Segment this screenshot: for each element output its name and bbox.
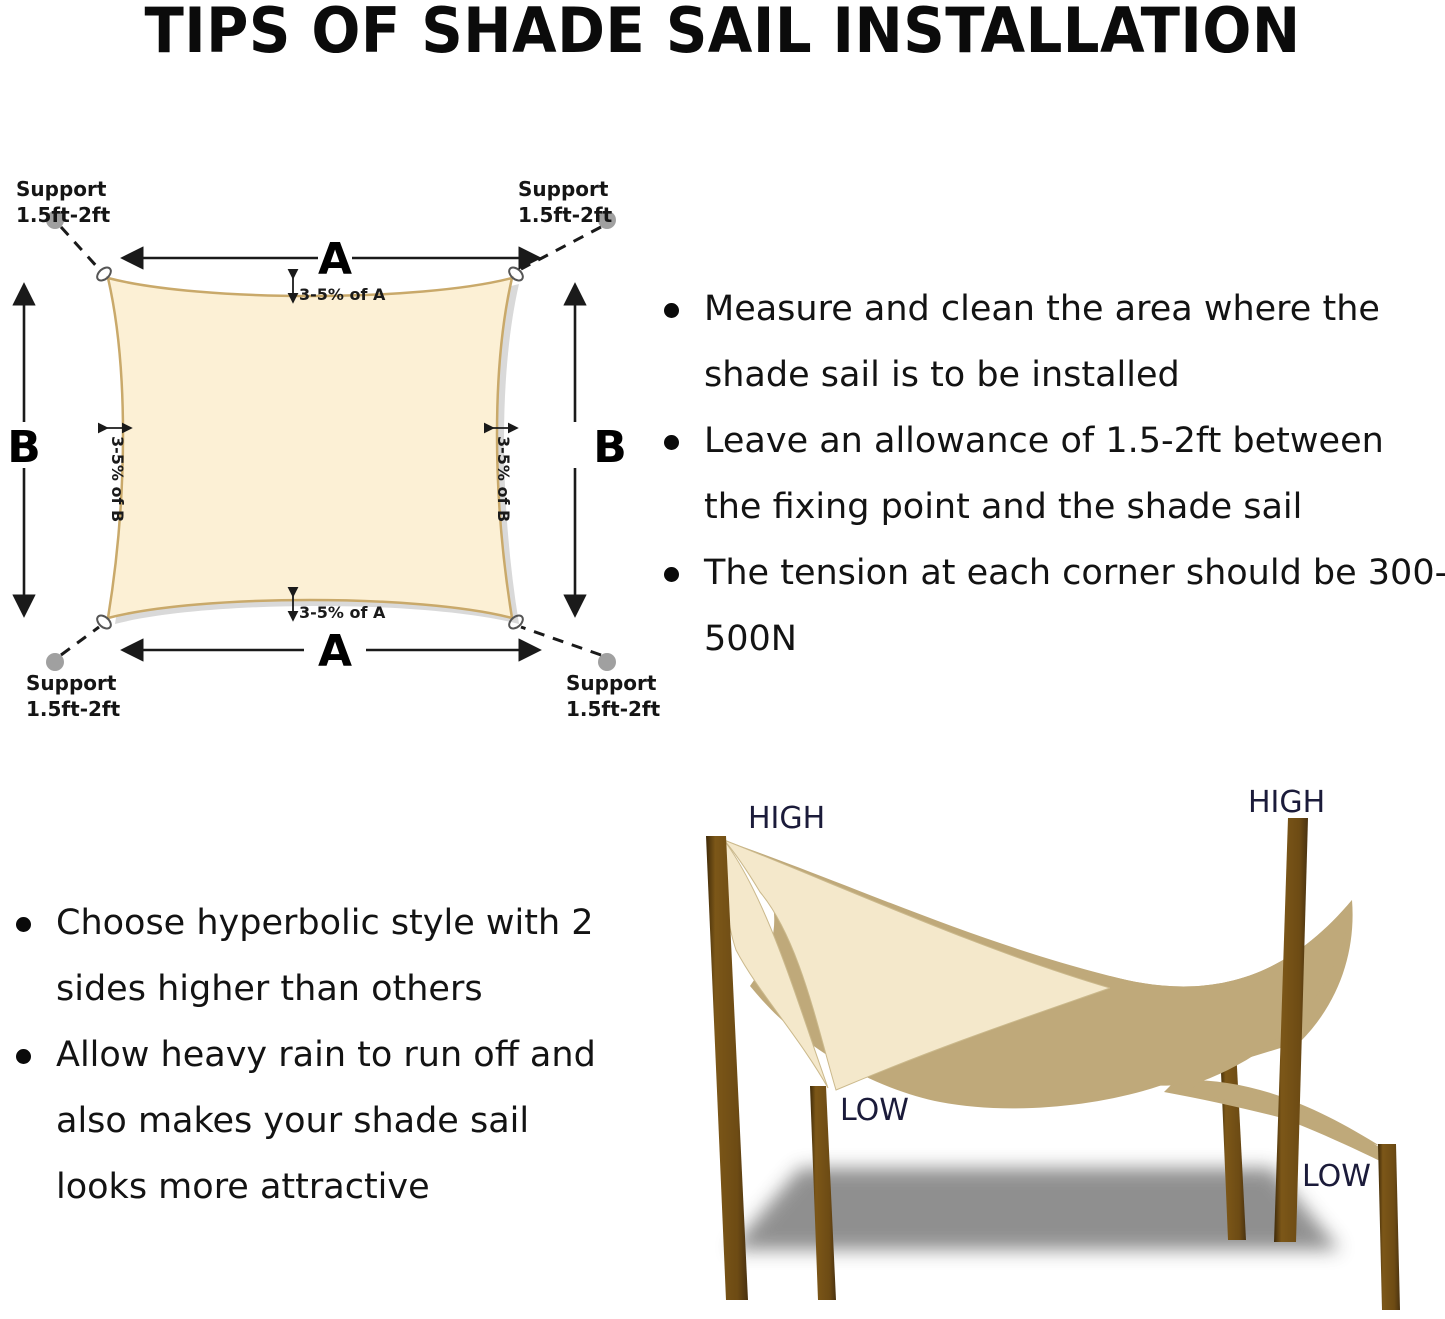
dimension-label-b-left: B [7, 422, 41, 473]
list-item-text: Allow heavy rain to run off and also mak… [56, 1035, 596, 1207]
hyperbolic-sail-illustration: HIGH HIGH LOW LOW [640, 780, 1445, 1319]
list-item: Measure and clean the area where the sha… [648, 276, 1445, 408]
tips-list-right: Measure and clean the area where the sha… [648, 276, 1445, 672]
support-label-top-right: Support 1.5ft-2ft [518, 177, 613, 227]
label-high-right: HIGH [1248, 785, 1325, 820]
label-low-left: LOW [840, 1093, 909, 1128]
rectangular-sail-diagram: A A B B 3-5% of A 3-5% of A [0, 150, 660, 740]
post-low-right [1378, 1144, 1400, 1310]
bullet-dot-icon [16, 917, 31, 932]
dimension-right-b: B [575, 286, 627, 614]
curve-callout-right: 3-5% of B [493, 428, 517, 522]
bullet-dot-icon [664, 303, 679, 318]
svg-text:1.5ft-2ft: 1.5ft-2ft [16, 203, 111, 227]
dimension-label-b-right: B [593, 422, 627, 473]
list-item: Allow heavy rain to run off and also mak… [0, 1022, 620, 1220]
svg-text:Support: Support [26, 671, 117, 695]
label-high-left: HIGH [748, 801, 825, 836]
bullet-dot-icon [664, 567, 679, 582]
sail-shape [108, 278, 519, 624]
bullet-dot-icon [664, 435, 679, 450]
list-item: Choose hyperbolic style with 2 sides hig… [0, 890, 620, 1022]
bullet-dot-icon [16, 1049, 31, 1064]
dimension-top-a: A [124, 234, 538, 285]
dimension-left-b: B [7, 286, 41, 614]
support-label-bottom-right: Support 1.5ft-2ft [566, 671, 660, 721]
list-item-text: Leave an allowance of 1.5-2ft between th… [704, 421, 1384, 527]
page-title: TIPS OF SHADE SAIL INSTALLATION [51, 0, 1395, 67]
dimension-label-a-top: A [318, 234, 352, 285]
curve-label-left: 3-5% of B [108, 436, 127, 522]
list-item-text: Measure and clean the area where the sha… [704, 289, 1380, 395]
list-item: The tension at each corner should be 300… [648, 540, 1445, 672]
svg-text:Support: Support [518, 177, 609, 201]
curve-label-right: 3-5% of B [494, 436, 513, 522]
list-item: Leave an allowance of 1.5-2ft between th… [648, 408, 1445, 540]
dimension-bottom-a: A [124, 626, 538, 677]
label-low-right: LOW [1302, 1159, 1371, 1194]
svg-text:Support: Support [16, 177, 107, 201]
tips-list-bottom: Choose hyperbolic style with 2 sides hig… [0, 890, 620, 1220]
svg-text:Support: Support [566, 671, 657, 695]
support-label-top-left: Support 1.5ft-2ft [16, 177, 111, 227]
support-label-bottom-left: Support 1.5ft-2ft [26, 671, 121, 721]
dimension-label-a-bottom: A [318, 626, 352, 677]
svg-text:1.5ft-2ft: 1.5ft-2ft [518, 203, 613, 227]
svg-text:1.5ft-2ft: 1.5ft-2ft [26, 697, 121, 721]
curve-callout-left: 3-5% of B [107, 428, 131, 522]
list-item-text: Choose hyperbolic style with 2 sides hig… [56, 903, 594, 1009]
svg-text:1.5ft-2ft: 1.5ft-2ft [566, 697, 660, 721]
list-item-text: The tension at each corner should be 300… [704, 553, 1445, 659]
curve-label-bottom: 3-5% of A [299, 603, 386, 622]
curve-label-top: 3-5% of A [299, 285, 386, 304]
